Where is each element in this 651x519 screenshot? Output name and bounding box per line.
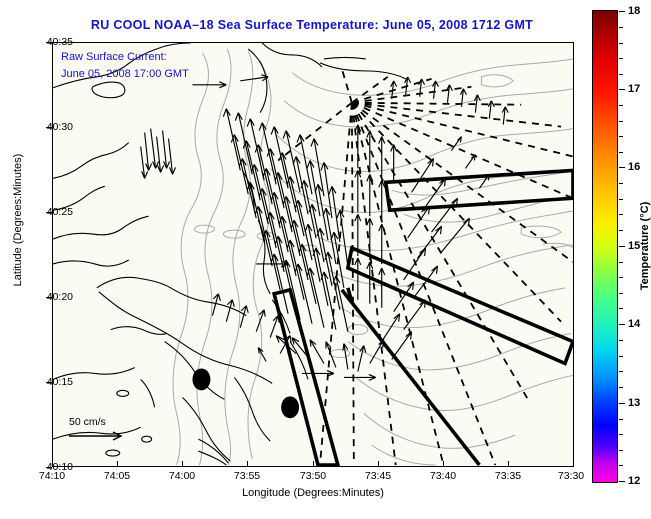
station-marker <box>192 368 210 390</box>
y-tick-mark <box>46 212 52 213</box>
colorbar-minor-tick <box>619 43 623 44</box>
x-tick-mark <box>52 461 53 467</box>
x-tick-label: 73:55 <box>234 470 260 482</box>
x-tick-mark <box>378 461 379 467</box>
map-annotation: Raw Surface Current: June 05, 2008 17:00… <box>61 49 189 83</box>
colorbar-label: 18 <box>628 5 640 17</box>
velocity-scale-key: 50 cm/s <box>63 416 133 444</box>
colorbar-minor-tick <box>619 105 623 106</box>
station-marker <box>281 396 299 418</box>
colorbar-minor-tick <box>619 27 623 28</box>
colorbar-minor-tick <box>619 230 623 231</box>
colorbar-tick-mark <box>619 246 625 247</box>
colorbar-minor-tick <box>619 465 623 466</box>
x-tick-label: 74:00 <box>169 470 195 482</box>
colorbar-minor-tick <box>619 293 623 294</box>
colorbar-minor-tick <box>619 199 623 200</box>
x-tick-label: 73:50 <box>300 470 326 482</box>
colorbar-minor-tick <box>619 308 623 309</box>
colorbar-minor-tick <box>619 58 623 59</box>
x-tick-mark <box>573 461 574 467</box>
y-axis-label: Latitude (Degrees:Minutes) <box>12 50 24 390</box>
colorbar-minor-tick <box>619 136 623 137</box>
y-tick-mark <box>46 297 52 298</box>
colorbar-label: 17 <box>628 83 640 95</box>
colorbar-minor-tick <box>619 419 623 420</box>
x-tick-mark <box>117 461 118 467</box>
page-title: RU COOL NOAA–18 Sea Surface Temperature:… <box>52 18 572 32</box>
velocity-scale-arrow-icon <box>63 428 133 444</box>
colorbar-minor-tick <box>619 74 623 75</box>
y-tick-mark <box>46 382 52 383</box>
y-tick-mark <box>46 467 52 468</box>
station-markers <box>192 368 299 418</box>
colorbar-label: 12 <box>628 475 640 487</box>
temperature-colorbar[interactable] <box>592 10 618 483</box>
x-tick-mark <box>443 461 444 467</box>
colorbar-tick-mark <box>619 11 625 12</box>
y-tick-mark <box>46 127 52 128</box>
x-tick-mark <box>313 461 314 467</box>
x-tick-mark <box>182 461 183 467</box>
map-canvas <box>53 43 573 466</box>
colorbar-tick-mark <box>619 89 625 90</box>
x-tick-mark <box>247 461 248 467</box>
colorbar-minor-tick <box>619 262 623 263</box>
map-plot-area[interactable]: Raw Surface Current: June 05, 2008 17:00… <box>52 42 574 467</box>
colorbar-minor-tick <box>619 450 623 451</box>
colorbar-minor-tick <box>619 371 623 372</box>
colorbar-minor-tick <box>619 340 623 341</box>
x-tick-label: 73:35 <box>495 470 521 482</box>
colorbar-minor-tick <box>619 183 623 184</box>
colorbar-minor-tick <box>619 121 623 122</box>
colorbar-tick-mark <box>619 403 625 404</box>
x-tick-label: 73:40 <box>430 470 456 482</box>
colorbar-label: 13 <box>628 397 640 409</box>
colorbar-minor-tick <box>619 214 623 215</box>
annotation-line-2: June 05, 2008 17:00 GMT <box>61 66 189 83</box>
x-axis-label: Longitude (Degrees:Minutes) <box>52 487 574 499</box>
x-tick-label: 74:10 <box>39 470 65 482</box>
velocity-scale-label: 50 cm/s <box>63 416 133 428</box>
colorbar-tick-mark <box>619 324 625 325</box>
x-tick-mark <box>508 461 509 467</box>
colorbar-minor-tick <box>619 277 623 278</box>
colorbar-minor-tick <box>619 387 623 388</box>
colorbar-tick-mark <box>619 167 625 168</box>
colorbar-minor-tick <box>619 434 623 435</box>
annotation-line-1: Raw Surface Current: <box>61 49 189 66</box>
colorbar-minor-tick <box>619 152 623 153</box>
y-tick-mark <box>46 42 52 43</box>
x-tick-label: 73:30 <box>558 470 584 482</box>
colorbar-title: Temperature (°C) <box>639 146 651 346</box>
colorbar-minor-tick <box>619 356 623 357</box>
x-tick-label: 73:45 <box>365 470 391 482</box>
colorbar-tick-mark <box>619 481 625 482</box>
x-tick-label: 74:05 <box>104 470 130 482</box>
